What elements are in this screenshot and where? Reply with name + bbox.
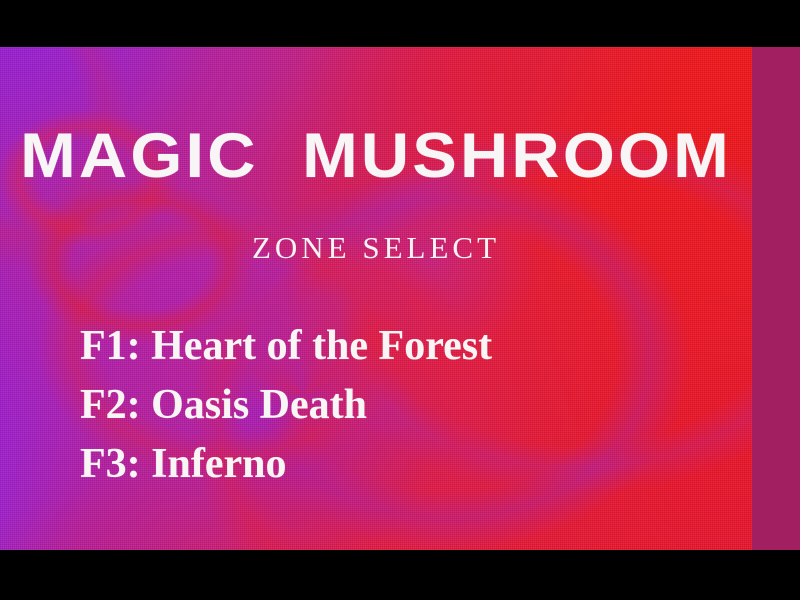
zone-option-f2[interactable]: F2: Oasis Death: [80, 376, 740, 435]
zone-select-heading: ZONE SELECT: [0, 232, 752, 264]
zone-option-f1[interactable]: F1: Heart of the Forest: [80, 317, 740, 376]
screen-content: MAGIC MUSHROOM ZONE SELECT F1: Heart of …: [0, 47, 752, 550]
game-screen: MAGIC MUSHROOM ZONE SELECT F1: Heart of …: [0, 0, 800, 600]
zone-list: F1: Heart of the Forest F2: Oasis Death …: [80, 317, 740, 494]
letterbox-bar-top: [0, 0, 800, 47]
game-title: MAGIC MUSHROOM: [0, 125, 775, 187]
letterbox-bar-bottom: [0, 550, 800, 600]
zone-option-f3[interactable]: F3: Inferno: [80, 435, 740, 494]
right-color-strip: [752, 47, 800, 550]
